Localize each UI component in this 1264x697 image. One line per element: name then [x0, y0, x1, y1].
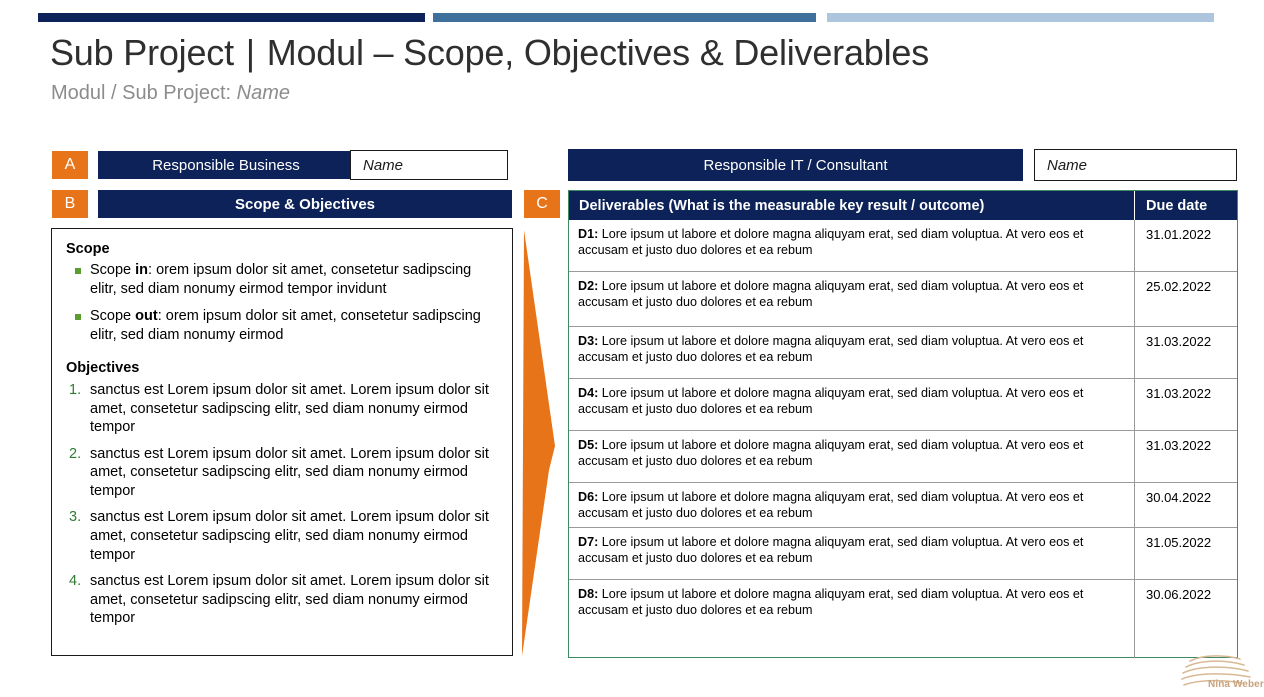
- responsible-it-label: Responsible IT / Consultant: [568, 149, 1023, 181]
- deliverable-id: D3:: [578, 334, 598, 348]
- deliverable-id: D7:: [578, 535, 598, 549]
- deliverables-table-header: Deliverables (What is the measurable key…: [569, 191, 1237, 220]
- due-date-cell: 31.03.2022: [1135, 327, 1237, 378]
- page-title: Sub Project | Modul – Scope, Objectives …: [50, 32, 929, 74]
- section-marker-c: C: [524, 190, 560, 218]
- logo-text: Nina Weber: [1208, 679, 1264, 690]
- deliverables-table: Deliverables (What is the measurable key…: [568, 190, 1238, 658]
- deliverable-cell: D1: Lore ipsum ut labore et dolore magna…: [569, 220, 1135, 271]
- table-row: D8: Lore ipsum ut labore et dolore magna…: [569, 580, 1237, 658]
- due-date-cell: 30.06.2022: [1135, 580, 1237, 658]
- scope-bullet-item: Scope out: orem ipsum dolor sit amet, co…: [66, 307, 498, 344]
- deliverable-id: D8:: [578, 587, 598, 601]
- scope-bullet-item: Scope in: orem ipsum dolor sit amet, con…: [66, 261, 498, 298]
- deliverable-description: Lore ipsum ut labore et dolore magna ali…: [578, 490, 1083, 520]
- scope-item-text: : orem ipsum dolor sit amet, consetetur …: [90, 262, 471, 297]
- slide-canvas: Sub Project | Modul – Scope, Objectives …: [0, 0, 1264, 697]
- column-header-due-date: Due date: [1135, 191, 1237, 220]
- flow-arrow-icon: [515, 218, 563, 658]
- deliverable-description: Lore ipsum ut labore et dolore magna ali…: [578, 587, 1083, 617]
- page-title-part2: Modul – Scope, Objectives & Deliverables: [267, 32, 929, 73]
- scope-item-emphasis: out: [135, 308, 158, 324]
- deliverable-id: D5:: [578, 438, 598, 452]
- table-row: D3: Lore ipsum ut labore et dolore magna…: [569, 327, 1237, 379]
- deliverable-cell: D2: Lore ipsum ut labore et dolore magna…: [569, 272, 1135, 326]
- deliverable-description: Lore ipsum ut labore et dolore magna ali…: [578, 279, 1083, 309]
- section-marker-a: A: [52, 151, 88, 179]
- deliverable-id: D1:: [578, 227, 598, 241]
- table-row: D7: Lore ipsum ut labore et dolore magna…: [569, 528, 1237, 580]
- due-date-cell: 31.05.2022: [1135, 528, 1237, 579]
- page-title-part1: Sub Project: [50, 32, 234, 73]
- deliverable-description: Lore ipsum ut labore et dolore magna ali…: [578, 438, 1083, 468]
- objective-item: sanctus est Lorem ipsum dolor sit amet. …: [66, 381, 498, 437]
- objectives-numbered-list: sanctus est Lorem ipsum dolor sit amet. …: [66, 381, 498, 628]
- responsible-business-label: Responsible Business: [98, 151, 354, 179]
- due-date-cell: 31.01.2022: [1135, 220, 1237, 271]
- topbar-segment-medium: [433, 13, 816, 22]
- page-subtitle-label: Modul / Sub Project:: [51, 82, 231, 104]
- objective-item: sanctus est Lorem ipsum dolor sit amet. …: [66, 445, 498, 501]
- column-header-deliverables: Deliverables (What is the measurable key…: [569, 191, 1135, 220]
- due-date-cell: 30.04.2022: [1135, 483, 1237, 527]
- scope-bullet-list: Scope in: orem ipsum dolor sit amet, con…: [66, 261, 498, 344]
- topbar-segment-dark: [38, 13, 425, 22]
- deliverable-id: D4:: [578, 386, 598, 400]
- deliverable-cell: D5: Lore ipsum ut labore et dolore magna…: [569, 431, 1135, 482]
- topbar-segment-light: [827, 13, 1214, 22]
- deliverable-description: Lore ipsum ut labore et dolore magna ali…: [578, 386, 1083, 416]
- deliverable-cell: D4: Lore ipsum ut labore et dolore magna…: [569, 379, 1135, 430]
- objective-item: sanctus est Lorem ipsum dolor sit amet. …: [66, 572, 498, 628]
- table-row: D2: Lore ipsum ut labore et dolore magna…: [569, 272, 1237, 327]
- deliverable-cell: D3: Lore ipsum ut labore et dolore magna…: [569, 327, 1135, 378]
- table-row: D5: Lore ipsum ut labore et dolore magna…: [569, 431, 1237, 483]
- page-subtitle-value: Name: [237, 82, 290, 104]
- scope-item-prefix: Scope: [90, 262, 135, 278]
- deliverable-description: Lore ipsum ut labore et dolore magna ali…: [578, 535, 1083, 565]
- scope-objectives-header: Scope & Objectives: [98, 190, 512, 218]
- deliverable-cell: D8: Lore ipsum ut labore et dolore magna…: [569, 580, 1135, 658]
- deliverable-description: Lore ipsum ut labore et dolore magna ali…: [578, 334, 1083, 364]
- deliverable-cell: D7: Lore ipsum ut labore et dolore magna…: [569, 528, 1135, 579]
- scope-objectives-panel: Scope Scope in: orem ipsum dolor sit ame…: [51, 228, 513, 656]
- due-date-cell: 25.02.2022: [1135, 272, 1237, 326]
- table-row: D6: Lore ipsum ut labore et dolore magna…: [569, 483, 1237, 528]
- deliverable-cell: D6: Lore ipsum ut labore et dolore magna…: [569, 483, 1135, 527]
- deliverable-id: D2:: [578, 279, 598, 293]
- page-subtitle: Modul / Sub Project: Name: [51, 82, 290, 105]
- responsible-it-name-input[interactable]: Name: [1034, 149, 1237, 181]
- objective-item: sanctus est Lorem ipsum dolor sit amet. …: [66, 508, 498, 564]
- scope-heading: Scope: [66, 241, 498, 257]
- scope-item-prefix: Scope: [90, 308, 135, 324]
- due-date-cell: 31.03.2022: [1135, 379, 1237, 430]
- section-marker-b: B: [52, 190, 88, 218]
- deliverables-table-body: D1: Lore ipsum ut labore et dolore magna…: [569, 220, 1237, 658]
- deliverable-id: D6:: [578, 490, 598, 504]
- objectives-heading: Objectives: [66, 360, 498, 376]
- due-date-cell: 31.03.2022: [1135, 431, 1237, 482]
- scope-item-emphasis: in: [135, 262, 148, 278]
- responsible-business-name-input[interactable]: Name: [350, 150, 508, 180]
- deliverable-description: Lore ipsum ut labore et dolore magna ali…: [578, 227, 1083, 257]
- table-row: D4: Lore ipsum ut labore et dolore magna…: [569, 379, 1237, 431]
- page-title-divider: |: [244, 32, 257, 73]
- table-row: D1: Lore ipsum ut labore et dolore magna…: [569, 220, 1237, 272]
